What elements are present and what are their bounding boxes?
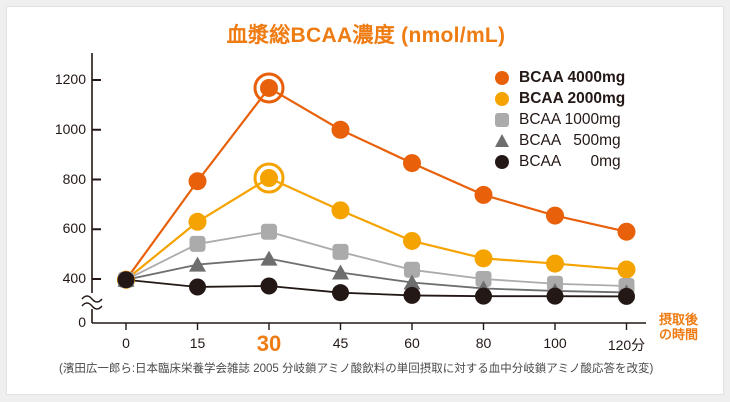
source-note: (濱田広一郎ら:日本臨床栄養学会雑誌 2005 分岐鎖アミノ酸飲料の単回摂取に対… [59, 360, 653, 376]
legend-label: BCAA 0mg [519, 153, 621, 171]
legend-item-2: BCAA 1000mg [493, 109, 625, 130]
legend-label: BCAA 4000mg [519, 69, 625, 87]
legend-circle-icon [493, 152, 513, 171]
legend-item-4: BCAA 0mg [493, 151, 625, 172]
legend-label: BCAA 1000mg [519, 111, 621, 129]
y-tick-label: 1200 [30, 71, 86, 87]
x-tick-label: 80 [454, 335, 514, 351]
chart-figure: 血漿総BCAA濃度 (nmol/mL) BCAA 4000mgBCAA 2000… [6, 6, 724, 395]
legend-circle-icon [493, 68, 513, 87]
legend-triangle-icon [493, 131, 513, 150]
legend-item-3: BCAA 500mg [493, 130, 625, 151]
legend-label: BCAA 500mg [519, 132, 621, 150]
x-tick-label: 100 [525, 335, 585, 351]
legend-item-1: BCAA 2000mg [493, 88, 625, 109]
legend-circle-icon [493, 89, 513, 108]
x-tick-label: 0 [96, 335, 156, 351]
y-tick-label: 600 [30, 220, 86, 236]
x-axis-title: 摂取後の時間 [659, 312, 721, 342]
y-tick-label: 400 [30, 270, 86, 286]
y-tick-label: 800 [30, 171, 86, 187]
chart-legend: BCAA 4000mgBCAA 2000mgBCAA 1000mgBCAA 50… [493, 67, 625, 172]
y-tick-label: 0 [30, 314, 86, 330]
legend-label: BCAA 2000mg [519, 90, 625, 108]
x-tick-label: 60 [382, 335, 442, 351]
y-tick-label: 1000 [30, 121, 86, 137]
legend-square-icon [493, 110, 513, 129]
x-tick-label: 45 [311, 335, 371, 351]
legend-item-0: BCAA 4000mg [493, 67, 625, 88]
x-tick-label: 15 [168, 335, 228, 351]
x-tick-label: 30 [239, 331, 299, 357]
x-axis-title-line: 摂取後 [659, 312, 721, 327]
x-tick-label: 120分 [597, 335, 657, 355]
x-axis-title-line: の時間 [659, 327, 721, 342]
